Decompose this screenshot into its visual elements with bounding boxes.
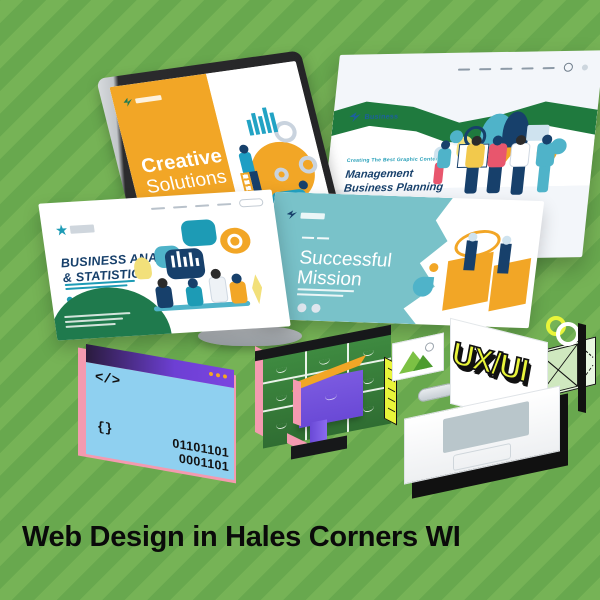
laptop-screen-edge (578, 323, 586, 413)
binary-text: 01101101 0001101 (172, 436, 229, 474)
uxui-laptop: UX/UI (388, 320, 578, 490)
laptop-keyboard[interactable] (443, 401, 529, 453)
panel-logo: Business (349, 111, 399, 122)
search-pill (239, 198, 264, 207)
brand-name (300, 212, 325, 219)
panel-title: Management Business Planning (343, 166, 445, 196)
chat-bubble-icon (180, 219, 218, 247)
figure-leg (537, 162, 551, 192)
illustration-canvas: Business Creating The Best Graphic Conte… (0, 0, 600, 600)
panel-nav-menu (151, 198, 264, 213)
drawer-handle[interactable] (325, 394, 337, 401)
mouse-icon (418, 382, 454, 403)
code-tag-icon: </> (95, 370, 120, 390)
panel-footer-dots (297, 303, 321, 313)
brand-mark-icon (286, 210, 297, 219)
image-thumbnail (392, 332, 444, 381)
figure-torso (185, 286, 204, 307)
platform-amber (488, 258, 531, 311)
figure-torso (229, 281, 248, 304)
brand-name: Business (364, 113, 399, 121)
panel-body-copy (297, 288, 354, 300)
brand-mark-icon (122, 97, 133, 107)
sun-icon (425, 342, 434, 353)
dot-amber (429, 263, 439, 272)
brand-mark-icon (349, 112, 361, 122)
panel-logo (286, 210, 325, 220)
figure-torso (535, 142, 556, 166)
panel-logo (55, 222, 95, 235)
brand-name (135, 95, 162, 103)
mountain-icon (413, 353, 433, 371)
page-title: Web Design in Hales Corners WI (22, 521, 460, 554)
figure-leg (464, 164, 479, 194)
window-controls (209, 372, 227, 379)
figure-torso (208, 276, 229, 303)
figure-leg (510, 163, 525, 195)
avatar (582, 64, 589, 70)
panel-successful-mission: Successful Mission (260, 192, 544, 328)
brand-mark-icon (55, 224, 68, 236)
filing-cabinet (255, 338, 391, 448)
figure-leg (486, 163, 502, 193)
figure-torso (155, 286, 174, 309)
figure-torso (509, 143, 531, 167)
panel-business-analysis: BUSINESS ANALYSIS & STATISTICS (38, 190, 290, 341)
panel-nav-menu (458, 62, 589, 73)
code-brace-icon: {} (97, 419, 113, 437)
figure-torso (437, 148, 452, 168)
gear-icon (556, 322, 580, 346)
search-icon (563, 63, 573, 72)
splash-teal (412, 276, 435, 297)
panel-title: Successful Mission (296, 248, 393, 291)
plant-icon (250, 274, 264, 304)
figure-torso (487, 143, 508, 167)
brand-name (70, 224, 95, 233)
figure-torso (465, 144, 486, 168)
drawer-side (293, 379, 301, 426)
